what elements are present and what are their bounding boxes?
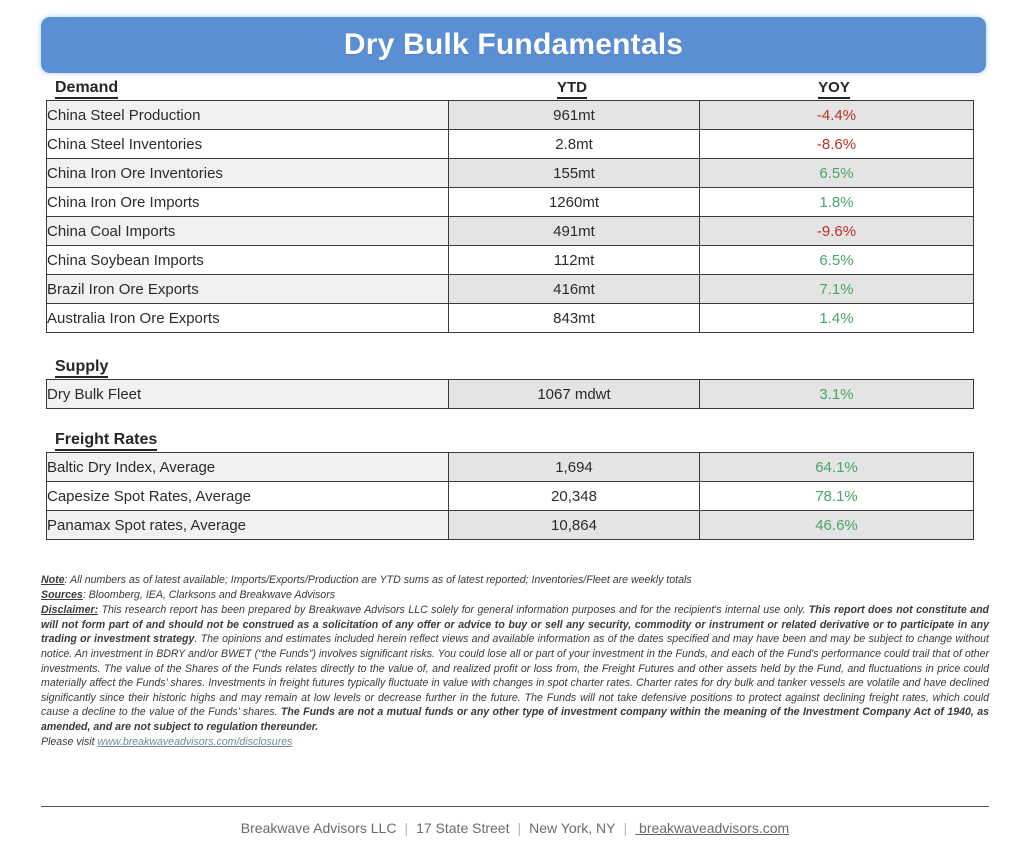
page-title-banner: Dry Bulk Fundamentals bbox=[41, 17, 986, 73]
yoy-change-badge: 6.5% bbox=[819, 165, 853, 182]
yoy-change-badge: 6.5% bbox=[819, 252, 853, 269]
row-label: China Iron Ore Inventories bbox=[47, 159, 449, 188]
note-line: Note: All numbers as of latest available… bbox=[41, 573, 989, 588]
disclosures-link[interactable]: www.breakwaveadvisors.com/disclosures bbox=[98, 736, 293, 748]
table-row: Baltic Dry Index, Average1,69464.1% bbox=[47, 453, 974, 482]
row-yoy-value: -9.6% bbox=[700, 217, 974, 246]
row-ytd-value: 416mt bbox=[449, 275, 700, 304]
row-yoy-value: -8.6% bbox=[700, 130, 974, 159]
yoy-change-badge: 46.6% bbox=[815, 517, 858, 534]
note-label: Note bbox=[41, 574, 65, 586]
column-header-yoy: YOY bbox=[697, 78, 971, 99]
table-row: Dry Bulk Fleet1067 mdwt3.1% bbox=[47, 380, 974, 409]
disclaimer-body: Disclaimer: This research report has bee… bbox=[41, 603, 989, 734]
sources-line: Sources: Bloomberg, IEA, Clarksons and B… bbox=[41, 588, 989, 603]
table-row: China Steel Production961mt-4.4% bbox=[47, 101, 974, 130]
yoy-change-badge: 3.1% bbox=[819, 386, 853, 403]
row-ytd-value: 1260mt bbox=[449, 188, 700, 217]
row-label: Brazil Iron Ore Exports bbox=[47, 275, 449, 304]
row-yoy-value: 64.1% bbox=[700, 453, 974, 482]
row-ytd-value: 155mt bbox=[449, 159, 700, 188]
yoy-change-badge: -8.6% bbox=[817, 136, 856, 153]
table-row: Capesize Spot Rates, Average20,34878.1% bbox=[47, 482, 974, 511]
section-header: Freight Rates bbox=[46, 430, 971, 452]
footer-address: 17 State Street bbox=[416, 820, 509, 836]
row-ytd-value: 1067 mdwt bbox=[449, 380, 700, 409]
row-label: Australia Iron Ore Exports bbox=[47, 304, 449, 333]
row-label: China Coal Imports bbox=[47, 217, 449, 246]
row-label: Baltic Dry Index, Average bbox=[47, 453, 449, 482]
table-row: China Coal Imports491mt-9.6% bbox=[47, 217, 974, 246]
row-ytd-value: 20,348 bbox=[449, 482, 700, 511]
table-row: Panamax Spot rates, Average10,86446.6% bbox=[47, 511, 974, 540]
sources-text: : Bloomberg, IEA, Clarksons and Breakwav… bbox=[83, 589, 335, 601]
section-header: Supply bbox=[46, 357, 971, 379]
footer-separator: | bbox=[404, 820, 408, 836]
section-title: Demand bbox=[55, 78, 118, 99]
row-yoy-value: 7.1% bbox=[700, 275, 974, 304]
row-ytd-value: 961mt bbox=[449, 101, 700, 130]
note-text: : All numbers as of latest available; Im… bbox=[65, 574, 692, 586]
yoy-change-badge: 78.1% bbox=[815, 488, 858, 505]
footer-separator: | bbox=[517, 820, 521, 836]
row-yoy-value: 46.6% bbox=[700, 511, 974, 540]
section-title: Supply bbox=[55, 357, 108, 378]
row-label: China Soybean Imports bbox=[47, 246, 449, 275]
section-supply: SupplyDry Bulk Fleet1067 mdwt3.1% bbox=[46, 357, 971, 409]
disclaimer-intro: This research report has been prepared b… bbox=[98, 604, 805, 616]
row-yoy-value: 3.1% bbox=[700, 380, 974, 409]
row-label: Dry Bulk Fleet bbox=[47, 380, 449, 409]
yoy-change-badge: -9.6% bbox=[817, 223, 856, 240]
footer-city: New York, NY bbox=[529, 820, 615, 836]
row-label: China Iron Ore Imports bbox=[47, 188, 449, 217]
section-freight-rates: Freight RatesBaltic Dry Index, Average1,… bbox=[46, 430, 971, 540]
row-ytd-value: 2.8mt bbox=[449, 130, 700, 159]
row-ytd-value: 491mt bbox=[449, 217, 700, 246]
row-ytd-value: 843mt bbox=[449, 304, 700, 333]
fundamentals-table: Baltic Dry Index, Average1,69464.1%Capes… bbox=[46, 452, 974, 540]
table-row: Brazil Iron Ore Exports416mt7.1% bbox=[47, 275, 974, 304]
row-yoy-value: 1.8% bbox=[700, 188, 974, 217]
footer-company: Breakwave Advisors LLC bbox=[241, 820, 397, 836]
table-row: China Iron Ore Inventories155mt6.5% bbox=[47, 159, 974, 188]
row-yoy-value: 1.4% bbox=[700, 304, 974, 333]
disclaimer-label: Disclaimer: bbox=[41, 604, 98, 616]
disclaimer-block: Note: All numbers as of latest available… bbox=[41, 573, 989, 750]
visit-text: Please visit bbox=[41, 736, 98, 748]
section-demand: DemandYTDYOYChina Steel Production961mt-… bbox=[46, 78, 971, 333]
row-yoy-value: -4.4% bbox=[700, 101, 974, 130]
section-header: DemandYTDYOY bbox=[46, 78, 971, 100]
fundamentals-table: China Steel Production961mt-4.4%China St… bbox=[46, 100, 974, 333]
footer-website-link[interactable]: breakwaveadvisors.com bbox=[635, 820, 789, 836]
row-label: China Steel Production bbox=[47, 101, 449, 130]
page-footer: Breakwave Advisors LLC|17 State Street|N… bbox=[41, 820, 989, 836]
row-ytd-value: 10,864 bbox=[449, 511, 700, 540]
yoy-change-badge: 64.1% bbox=[815, 459, 858, 476]
table-row: China Soybean Imports112mt6.5% bbox=[47, 246, 974, 275]
yoy-change-badge: 1.4% bbox=[819, 310, 853, 327]
footer-separator: | bbox=[624, 820, 628, 836]
yoy-change-badge: -4.4% bbox=[817, 107, 856, 124]
table-row: China Iron Ore Imports1260mt1.8% bbox=[47, 188, 974, 217]
row-label: Capesize Spot Rates, Average bbox=[47, 482, 449, 511]
yoy-change-badge: 7.1% bbox=[819, 281, 853, 298]
row-label: China Steel Inventories bbox=[47, 130, 449, 159]
row-yoy-value: 78.1% bbox=[700, 482, 974, 511]
sources-label: Sources bbox=[41, 589, 83, 601]
table-row: China Steel Inventories2.8mt-8.6% bbox=[47, 130, 974, 159]
row-yoy-value: 6.5% bbox=[700, 159, 974, 188]
row-label: Panamax Spot rates, Average bbox=[47, 511, 449, 540]
yoy-change-badge: 1.8% bbox=[819, 194, 853, 211]
row-ytd-value: 112mt bbox=[449, 246, 700, 275]
section-title: Freight Rates bbox=[55, 430, 157, 451]
column-header-ytd: YTD bbox=[447, 78, 697, 99]
fundamentals-table: Dry Bulk Fleet1067 mdwt3.1% bbox=[46, 379, 974, 409]
table-row: Australia Iron Ore Exports843mt1.4% bbox=[47, 304, 974, 333]
visit-line: Please visit www.breakwaveadvisors.com/d… bbox=[41, 735, 989, 750]
row-ytd-value: 1,694 bbox=[449, 453, 700, 482]
page-title: Dry Bulk Fundamentals bbox=[344, 28, 683, 62]
footer-divider bbox=[41, 806, 989, 807]
row-yoy-value: 6.5% bbox=[700, 246, 974, 275]
